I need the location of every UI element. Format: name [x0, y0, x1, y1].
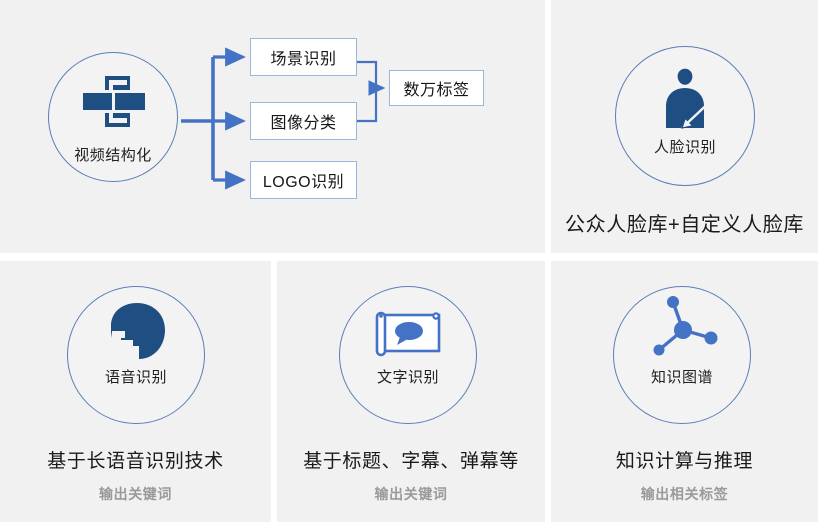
panel-video-structuring: 视频结构化 场景识别 图像分类 LOGO识别 数万标签	[0, 0, 545, 253]
caption-speech-recognition: 基于长语音识别技术	[0, 446, 271, 473]
divider-vertical-bottom-1	[271, 261, 277, 522]
flow-box-tens-of-thousands-tags[interactable]: 数万标签	[389, 70, 484, 106]
circle-label-speech-recognition: 语音识别	[57, 366, 215, 387]
banner-speech-bubble-icon	[373, 308, 445, 360]
speaking-head-icon	[103, 302, 169, 362]
divider-vertical-bottom-2	[545, 261, 551, 522]
divider-vertical-top-row	[545, 0, 551, 253]
caption-text-recognition: 基于标题、字幕、弹幕等	[277, 446, 545, 473]
subcaption-speech-recognition: 输出关键词	[0, 484, 271, 504]
circle-label-knowledge-graph: 知识图谱	[603, 366, 761, 387]
flow-box-logo-recognition[interactable]: LOGO识别	[250, 161, 357, 199]
divider-horizontal	[0, 253, 818, 261]
circle-label-text-recognition: 文字识别	[329, 366, 487, 387]
circle-label-face-recognition: 人脸识别	[605, 136, 765, 157]
node-network-icon	[645, 290, 721, 360]
person-scan-icon	[652, 68, 718, 130]
capability-overview-board: 视频结构化 场景识别 图像分类 LOGO识别 数万标签 人脸识别 公众人脸库+自…	[0, 0, 818, 522]
flow-box-image-classification[interactable]: 图像分类	[250, 102, 357, 140]
caption-face-recognition: 公众人脸库+自定义人脸库	[551, 208, 818, 237]
subcaption-text-recognition: 输出关键词	[277, 484, 545, 504]
layered-blocks-icon	[83, 76, 145, 128]
caption-knowledge-graph: 知识计算与推理	[551, 446, 818, 473]
circle-label-video-structuring: 视频结构化	[28, 144, 198, 165]
flow-box-scene-recognition[interactable]: 场景识别	[250, 38, 357, 76]
subcaption-knowledge-graph: 输出相关标签	[551, 484, 818, 504]
